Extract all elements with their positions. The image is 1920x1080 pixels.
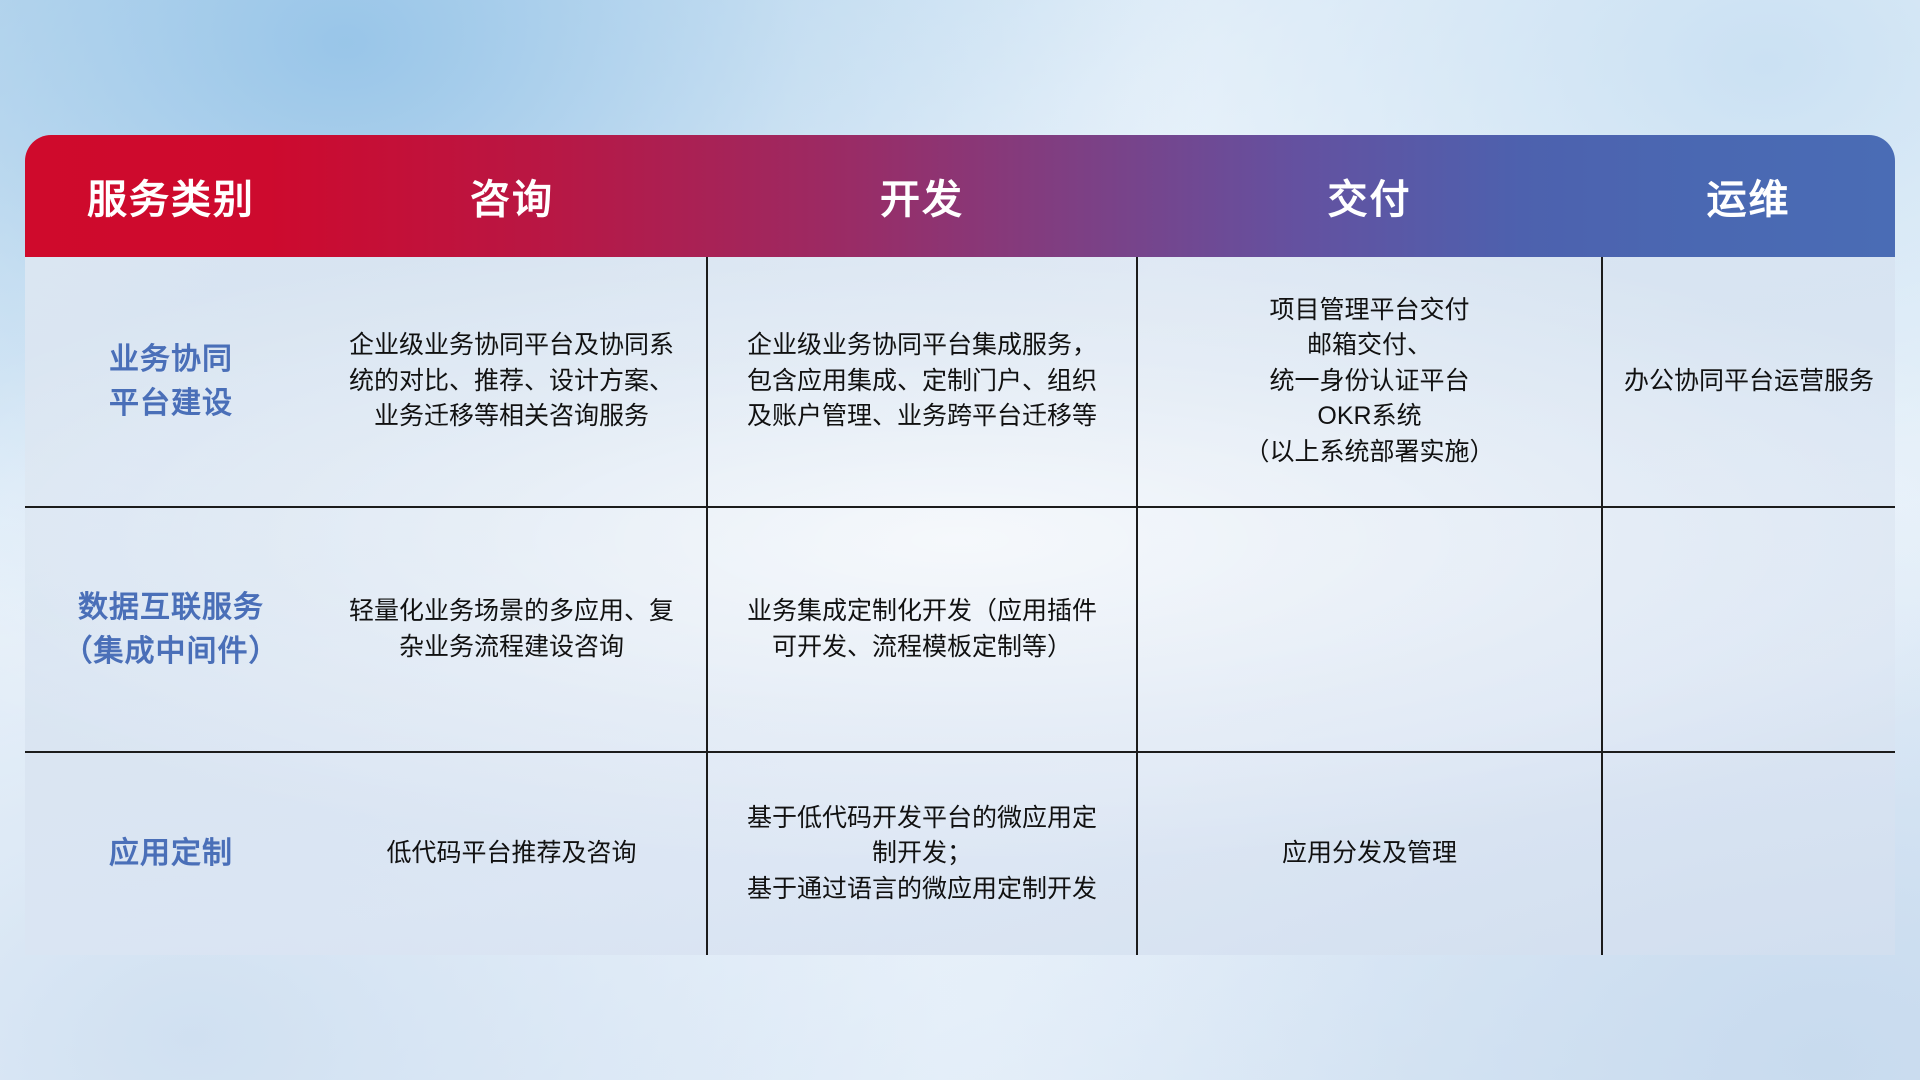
table-row: 业务协同 平台建设 企业级业务协同平台及协同系 统的对比、推荐、设计方案、 业务…: [25, 257, 1895, 507]
service-table: 服务类别 咨询 开发 交付 运维 业务协同 平台建设 企业级业务协同平台及协同: [25, 135, 1895, 955]
cell-category-1: 业务协同 平台建设: [25, 257, 317, 507]
table-row: 应用定制 低代码平台推荐及咨询 基于低代码开发平台的微应用定 制开发； 基于通过…: [25, 752, 1895, 955]
header-label-operations: 运维: [1707, 178, 1791, 222]
header-label-delivery: 交付: [1328, 178, 1412, 222]
cell-consulting-1: 企业级业务协同平台及协同系 统的对比、推荐、设计方案、 业务迁移等相关咨询服务: [317, 257, 707, 507]
cell-operations-1: 办公协同平台运营服务: [1602, 257, 1895, 507]
table-row: 数据互联服务 （集成中间件） 轻量化业务场景的多应用、复 杂业务流程建设咨询 业…: [25, 507, 1895, 752]
cell-development-3: 基于低代码开发平台的微应用定 制开发； 基于通过语言的微应用定制开发: [707, 752, 1137, 955]
header-cell-operations: 运维: [1602, 135, 1895, 257]
service-matrix-table: 服务类别 咨询 开发 交付 运维 业务协同 平台建设 企业级业务协同平台及协同: [25, 135, 1895, 955]
cell-category-2: 数据互联服务 （集成中间件）: [25, 507, 317, 752]
header-cell-category: 服务类别: [25, 135, 317, 257]
header-cell-delivery: 交付: [1137, 135, 1602, 257]
cell-delivery-3: 应用分发及管理: [1137, 752, 1602, 955]
header-cell-consulting: 咨询: [317, 135, 707, 257]
cell-category-3: 应用定制: [25, 752, 317, 955]
header-label-consulting: 咨询: [470, 178, 554, 222]
header-label-development: 开发: [880, 178, 964, 222]
header-label-category: 服务类别: [87, 178, 255, 222]
cell-operations-3: [1602, 752, 1895, 955]
cell-consulting-2: 轻量化业务场景的多应用、复 杂业务流程建设咨询: [317, 507, 707, 752]
cell-delivery-1: 项目管理平台交付 邮箱交付、 统一身份认证平台 OKR系统 （以上系统部署实施）: [1137, 257, 1602, 507]
cell-operations-2: [1602, 507, 1895, 752]
cell-delivery-2: [1137, 507, 1602, 752]
cell-development-1: 企业级业务协同平台集成服务， 包含应用集成、定制门户、组织 及账户管理、业务跨平…: [707, 257, 1137, 507]
header-row: 服务类别 咨询 开发 交付 运维: [25, 135, 1895, 257]
cell-consulting-3: 低代码平台推荐及咨询: [317, 752, 707, 955]
header-cell-development: 开发: [707, 135, 1137, 257]
cell-development-2: 业务集成定制化开发（应用插件 可开发、流程模板定制等）: [707, 507, 1137, 752]
table-header: 服务类别 咨询 开发 交付 运维: [25, 135, 1895, 257]
table-body: 业务协同 平台建设 企业级业务协同平台及协同系 统的对比、推荐、设计方案、 业务…: [25, 257, 1895, 955]
